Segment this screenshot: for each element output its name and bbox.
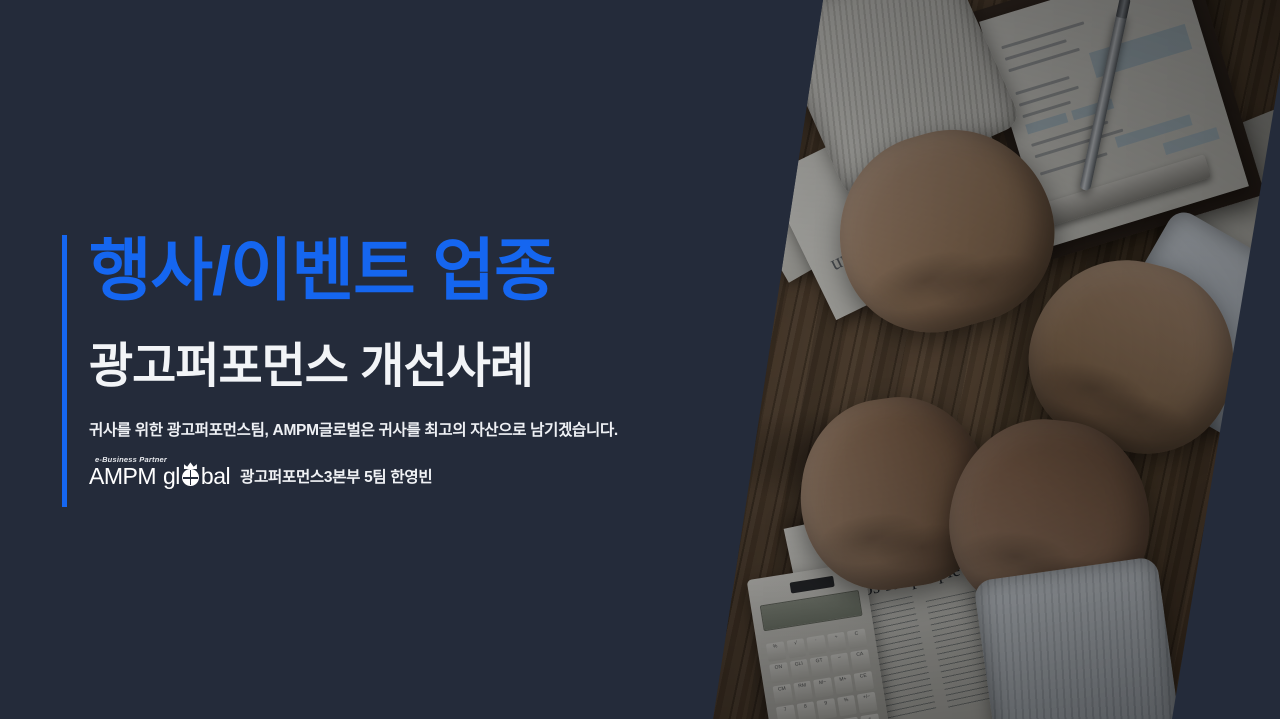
globe-ball [182,469,199,486]
logo-text-ampm: AMPM [89,465,156,488]
globe-icon [181,467,200,486]
author-byline: 광고퍼포먼스3본부 5팀 한영빈 [240,465,432,488]
presentation-slide: al plan INVOICE [0,0,1280,719]
crown-icon [184,462,197,469]
logo-text-bal: bal [201,465,230,488]
logo-tagline: e-Business Partner [95,456,167,464]
accent-bar [62,235,67,507]
logo-row: e-Business Partner AMPM gl bal 광고퍼포먼스3본부… [89,456,762,489]
title-block: 행사/이벤트 업종 광고퍼포먼스 개선사례 귀사를 위한 광고퍼포먼스팀, AM… [62,235,762,488]
logo-wordmark: AMPM gl bal [89,465,230,488]
page-subtitle: 광고퍼포먼스 개선사례 [89,341,762,393]
tagline: 귀사를 위한 광고퍼포먼스팀, AMPM글로벌은 귀사를 최고의 자산으로 남기… [89,418,762,440]
logo-text-gl: gl [163,465,180,488]
ampm-global-logo: e-Business Partner AMPM gl bal [89,456,230,489]
page-title: 행사/이벤트 업종 [89,235,762,307]
